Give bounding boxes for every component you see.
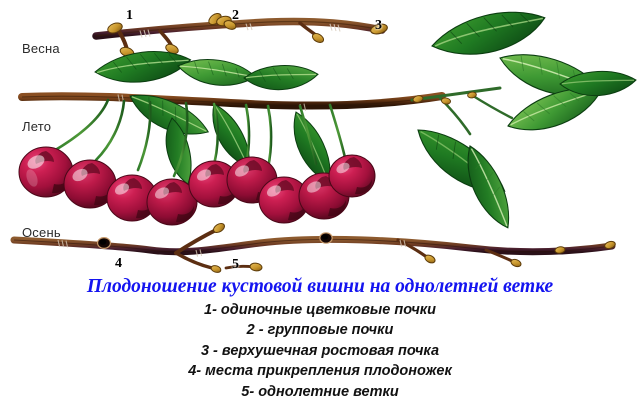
callout-number-3: 3: [375, 18, 382, 34]
autumn-branch-group: [14, 222, 616, 274]
season-label-summer: Лето: [22, 119, 51, 134]
cherry-fruit: [329, 155, 375, 197]
pedicel-scar: [98, 238, 111, 249]
cherry-cluster-right: [189, 155, 375, 223]
season-label-autumn: Осень: [22, 225, 61, 240]
callout-number-5: 5: [232, 257, 239, 273]
callout-number-1: 1: [126, 8, 133, 24]
pedicel-scar: [320, 233, 332, 243]
caption-title: Плодоношение кустовой вишни на однолетне…: [0, 276, 640, 298]
leaf-cluster-right: [407, 0, 638, 234]
spring-branch-group: [96, 11, 388, 58]
callout-number-4: 4: [115, 256, 122, 272]
season-label-spring: Весна: [22, 41, 60, 56]
legend-item: 2 - групповые почки: [0, 320, 640, 340]
legend-item: 5- однолетние ветки: [0, 382, 640, 402]
legend-item: 3 - верхушечная ростовая почка: [0, 341, 640, 361]
legend-item: 1- одиночные цветковые почки: [0, 300, 640, 320]
caption-legend-list: 1- одиночные цветковые почки 2 - группов…: [0, 300, 640, 402]
callout-number-2: 2: [232, 8, 239, 24]
illustration-canvas: Весна Лето Осень 1 2 3 4 5 Плодоношение …: [0, 0, 640, 406]
legend-item: 4- места прикрепления плодоножек: [0, 361, 640, 381]
